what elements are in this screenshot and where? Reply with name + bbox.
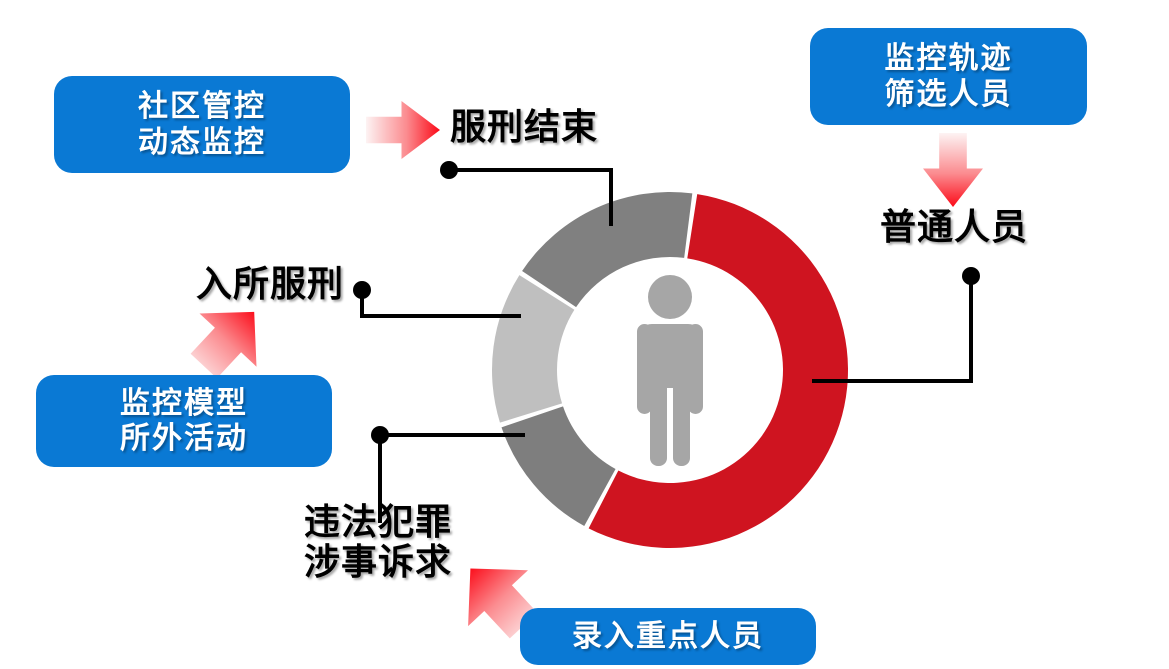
leader-ordinary-person bbox=[812, 267, 980, 381]
leader-sentence-end bbox=[440, 161, 611, 226]
label-enter-prison-line-1: 入所服刑 bbox=[196, 265, 344, 305]
monitor-model-box[interactable]: 监控模型 所外活动 bbox=[36, 375, 332, 467]
monitor-track-line-2: 筛选人员 bbox=[885, 77, 1013, 112]
crime-appeal-segment[interactable] bbox=[501, 406, 615, 526]
monitor-track-box[interactable]: 监控轨迹 筛选人员 bbox=[810, 28, 1087, 125]
leader-enter-prison-dot bbox=[353, 281, 371, 299]
label-sentence-end-line-1: 服刑结束 bbox=[450, 108, 598, 148]
label-crime-appeal-line-2: 涉事诉求 bbox=[304, 543, 452, 583]
leader-ordinary-person-dot bbox=[962, 267, 980, 285]
monitor-model-line-1: 监控模型 bbox=[120, 386, 248, 421]
arrow-right-to-sentence-end bbox=[366, 101, 440, 159]
leader-enter-prison bbox=[353, 281, 521, 316]
leader-crime-appeal-dot bbox=[371, 426, 389, 444]
label-ordinary-person: 普通人员 bbox=[880, 208, 1028, 248]
label-crime-appeal-line-1: 违法犯罪 bbox=[304, 503, 452, 543]
leader-sentence-end-dot bbox=[440, 161, 458, 179]
label-ordinary-person-line-1: 普通人员 bbox=[880, 208, 1028, 248]
enter-prison-segment[interactable] bbox=[492, 275, 574, 422]
monitor-model-line-2: 所外活动 bbox=[120, 421, 248, 456]
label-sentence-end: 服刑结束 bbox=[450, 108, 598, 148]
enroll-key-person-box[interactable]: 录入重点人员 bbox=[520, 608, 816, 665]
community-control-box[interactable]: 社区管控 动态监控 bbox=[54, 76, 350, 173]
label-crime-appeal: 违法犯罪 涉事诉求 bbox=[304, 503, 452, 584]
arrow-down-to-ordinary-person bbox=[923, 133, 983, 207]
arrow-up-right-to-enter-prison bbox=[191, 312, 257, 378]
ordinary-person-segment[interactable] bbox=[589, 194, 848, 548]
person-icon bbox=[637, 275, 703, 466]
community-control-line-2: 动态监控 bbox=[138, 125, 266, 160]
diagram-canvas: 社区管控 动态监控 监控轨迹 筛选人员 监控模型 所外活动 录入重点人员 服刑结… bbox=[0, 0, 1169, 669]
label-enter-prison: 入所服刑 bbox=[196, 265, 344, 305]
monitor-track-line-1: 监控轨迹 bbox=[885, 41, 1013, 76]
sentence-end-segment[interactable] bbox=[522, 192, 692, 307]
community-control-line-1: 社区管控 bbox=[138, 89, 266, 124]
enroll-key-person-line-1: 录入重点人员 bbox=[572, 619, 764, 654]
